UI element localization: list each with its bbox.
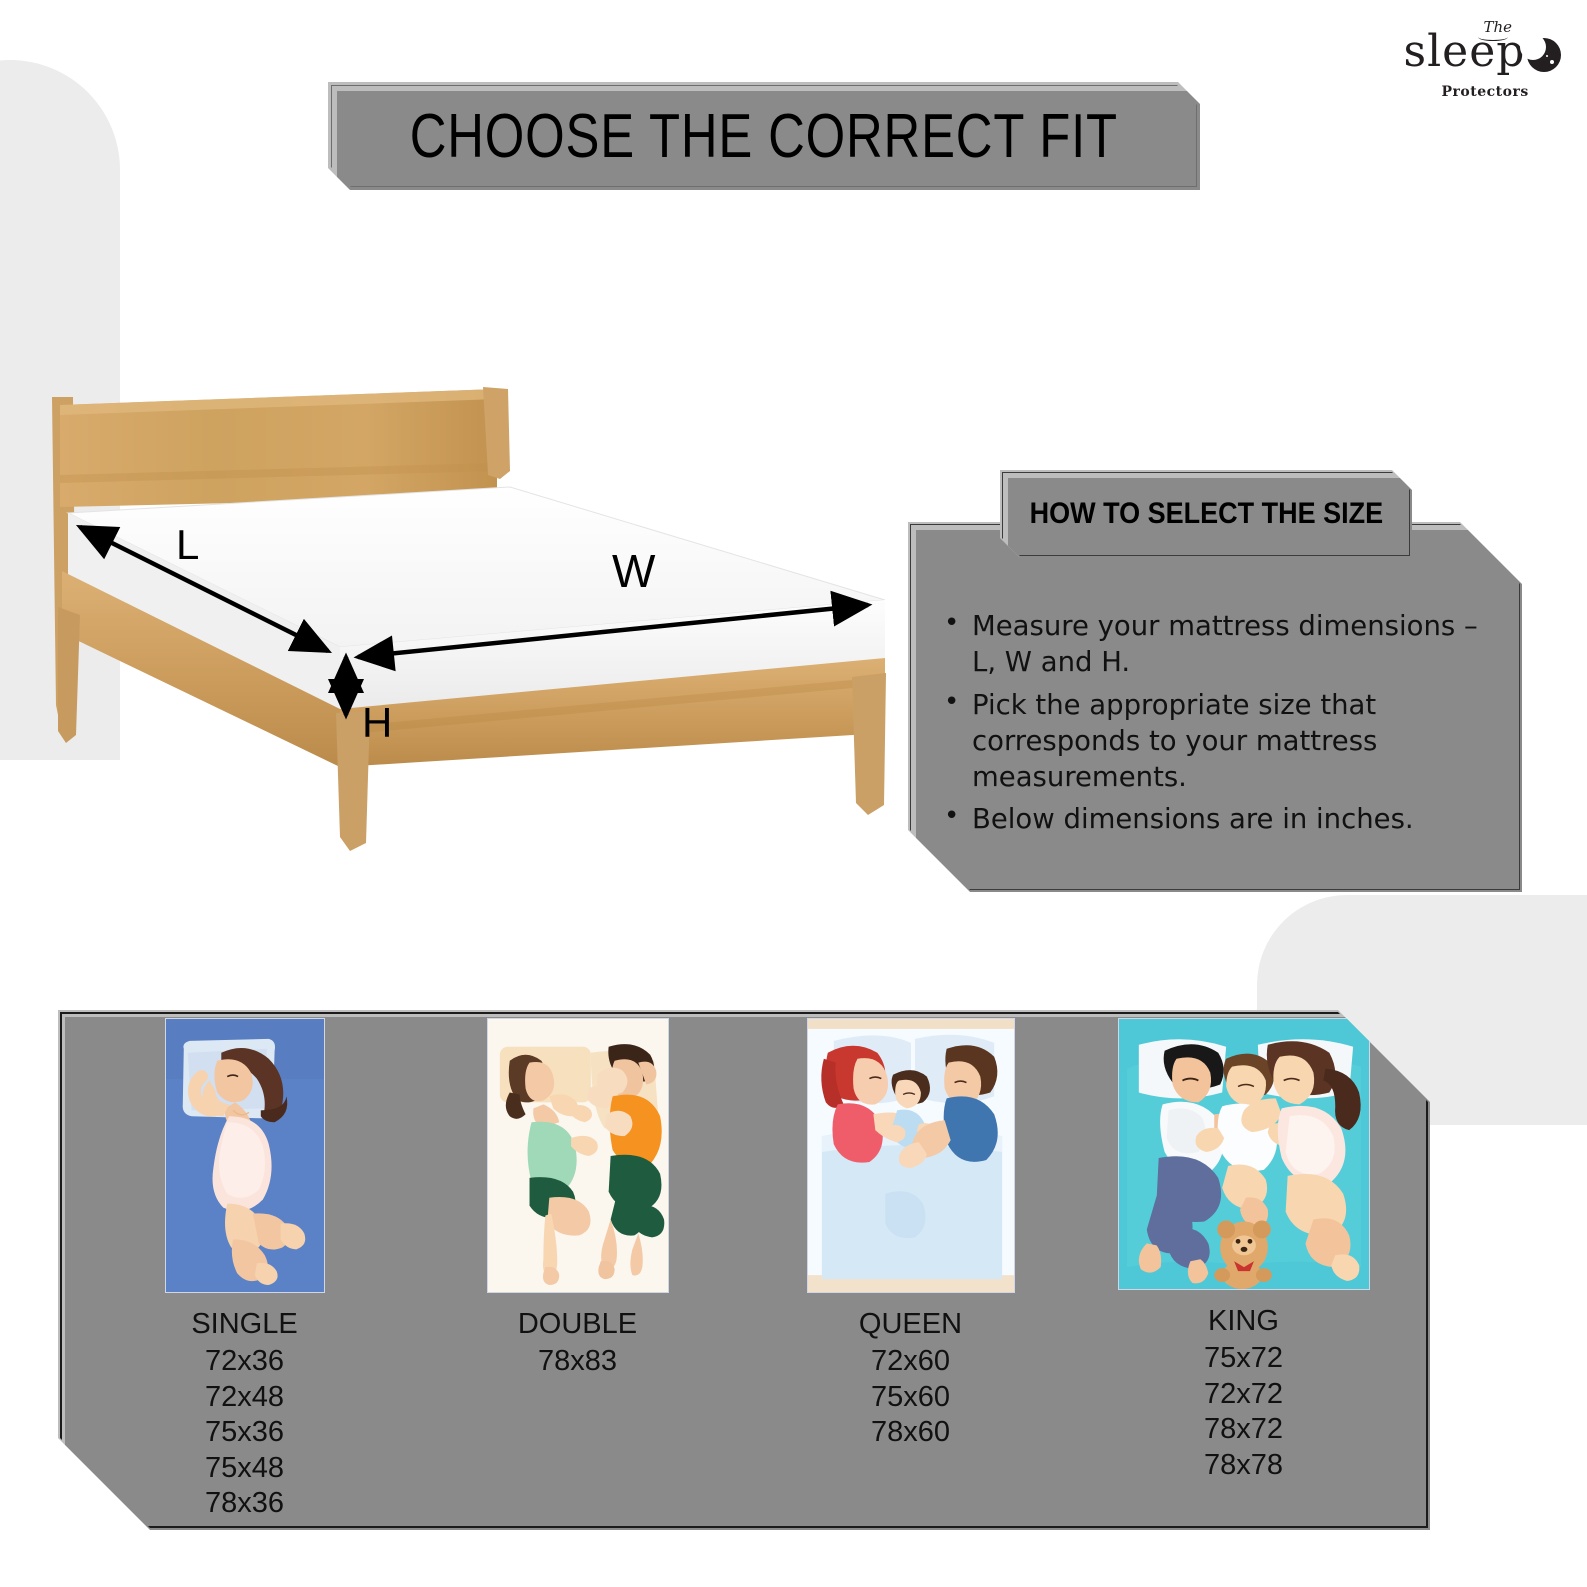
size-dim-single-1: 72x48 <box>191 1380 297 1415</box>
infographic-canvas: The sleep Protectors CHOOSE THE CORRECT … <box>0 0 1587 1587</box>
logo-subtitle: Protectors <box>1442 84 1529 100</box>
size-dim-queen-0: 72x60 <box>859 1344 962 1379</box>
how-to-select-heading: HOW TO SELECT THE SIZE <box>1029 496 1383 532</box>
page-title: CHOOSE THE CORRECT FIT <box>410 101 1118 172</box>
crescent-moon-icon <box>1527 38 1561 72</box>
size-dim-queen-1: 75x60 <box>859 1380 962 1415</box>
svg-text:H: H <box>362 699 392 746</box>
how-to-bullet-2: Below dimensions are in inches. <box>972 801 1498 837</box>
size-dim-king-0: 75x72 <box>1204 1341 1283 1376</box>
size-dim-single-3: 75x48 <box>191 1451 297 1486</box>
svg-text:L: L <box>176 521 199 568</box>
size-dim-queen-2: 78x60 <box>859 1415 962 1450</box>
size-label-queen: QUEEN <box>859 1307 962 1342</box>
how-to-bullet-1: Pick the appropriate size that correspon… <box>972 687 1498 796</box>
svg-text:W: W <box>612 545 656 597</box>
mattress-sizes-panel: SINGLE 72x36 72x48 75x36 75x48 78x36 <box>58 1010 1430 1530</box>
double-sleepers-figure <box>487 1018 669 1293</box>
how-to-select-panel: Measure your mattress dimensions – L, W … <box>908 522 1522 892</box>
size-column-queen: QUEEN 72x60 75x60 78x60 <box>744 1018 1077 1530</box>
how-to-bullet-list: Measure your mattress dimensions – L, W … <box>934 608 1498 844</box>
size-column-double: DOUBLE 78x83 <box>411 1018 744 1530</box>
size-dim-single-2: 75x36 <box>191 1415 297 1450</box>
size-dim-single-4: 78x36 <box>191 1486 297 1521</box>
king-family-figure <box>1118 1018 1370 1290</box>
how-to-select-heading-banner: HOW TO SELECT THE SIZE <box>1000 470 1412 558</box>
how-to-bullet-0: Measure your mattress dimensions – L, W … <box>972 608 1498 681</box>
size-label-king: KING <box>1204 1304 1283 1339</box>
logo-wordmark: sleep <box>1404 30 1526 74</box>
size-dim-double-0: 78x83 <box>518 1344 637 1379</box>
size-label-single: SINGLE <box>191 1307 297 1342</box>
size-dim-single-0: 72x36 <box>191 1344 297 1379</box>
bed-diagram: L W H <box>40 375 920 855</box>
size-dim-king-3: 78x78 <box>1204 1448 1283 1483</box>
size-label-double: DOUBLE <box>518 1307 637 1342</box>
size-column-king: KING 75x72 72x72 78x72 78x78 <box>1077 1018 1410 1530</box>
queen-family-figure <box>807 1018 1015 1293</box>
size-dim-king-1: 72x72 <box>1204 1377 1283 1412</box>
size-column-single: SINGLE 72x36 72x48 75x36 75x48 78x36 <box>78 1018 411 1530</box>
brand-logo: The sleep Protectors <box>1383 6 1575 110</box>
page-title-banner: CHOOSE THE CORRECT FIT <box>328 82 1200 190</box>
single-sleeper-figure <box>165 1018 325 1293</box>
size-dim-king-2: 78x72 <box>1204 1412 1283 1447</box>
